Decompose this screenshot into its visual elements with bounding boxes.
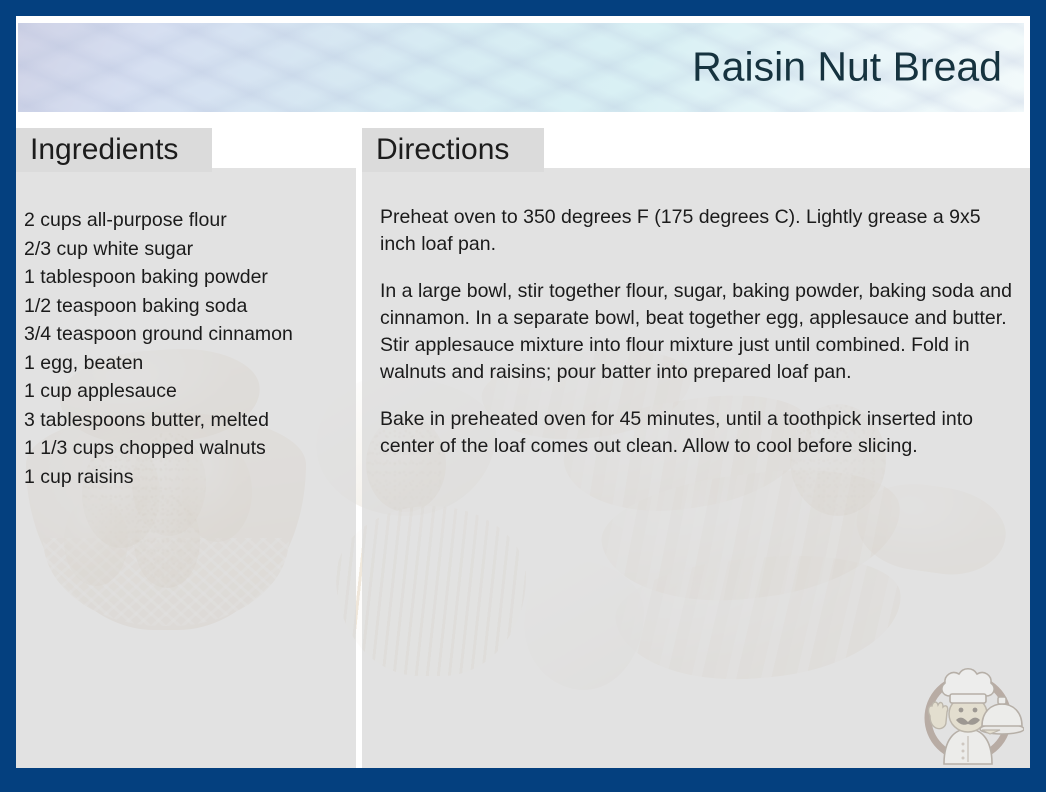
directions-panel: Preheat oven to 350 degrees F (175 degre… (362, 168, 1030, 768)
directions-heading-tab: Directions (362, 128, 544, 172)
directions-heading: Directions (376, 133, 509, 167)
list-item: 1 1/3 cups chopped walnuts (24, 434, 348, 463)
list-item: 1 tablespoon baking powder (24, 263, 348, 292)
list-item: 1 cup applesauce (24, 377, 348, 406)
directions-text: Preheat oven to 350 degrees F (175 degre… (380, 204, 1012, 460)
ingredients-panel: 2 cups all-purpose flour 2/3 cup white s… (16, 168, 356, 768)
ingredients-heading-tab: Ingredients (16, 128, 212, 172)
directions-paragraph: Preheat oven to 350 degrees F (175 degre… (380, 204, 1012, 258)
list-item: 3 tablespoons butter, melted (24, 406, 348, 435)
list-item: 2/3 cup white sugar (24, 235, 348, 264)
title-banner: Raisin Nut Bread (18, 23, 1024, 112)
chef-mascot-logo (912, 656, 1024, 768)
list-item: 1/2 teaspoon baking soda (24, 292, 348, 321)
list-item: 1 egg, beaten (24, 349, 348, 378)
page-title: Raisin Nut Bread (692, 43, 1002, 90)
list-item: 1 cup raisins (24, 463, 348, 492)
directions-paragraph: In a large bowl, stir together flour, su… (380, 278, 1012, 386)
directions-paragraph: Bake in preheated oven for 45 minutes, u… (380, 406, 1012, 460)
list-item: 3/4 teaspoon ground cinnamon (24, 320, 348, 349)
slide-canvas: Raisin Nut Bread (16, 16, 1030, 768)
list-item: 2 cups all-purpose flour (24, 206, 348, 235)
ingredients-heading: Ingredients (30, 133, 178, 167)
ingredients-list: 2 cups all-purpose flour 2/3 cup white s… (24, 206, 348, 491)
slide-frame: Raisin Nut Bread (0, 0, 1046, 792)
